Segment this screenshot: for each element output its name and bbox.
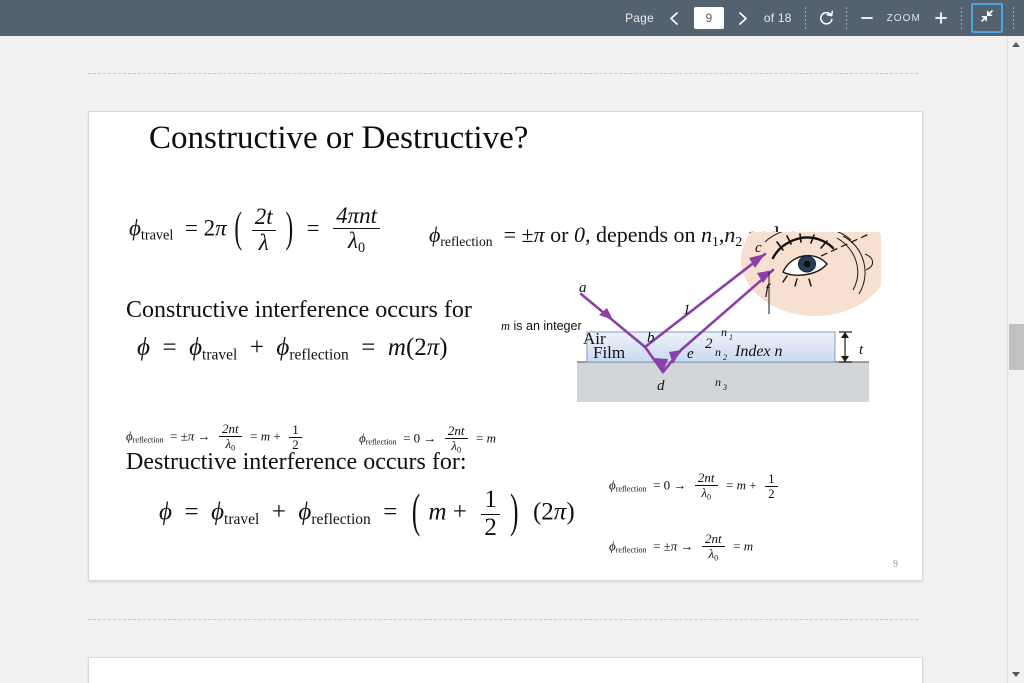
figure-label-film: Film: [593, 343, 625, 362]
equation-phi-travel: ϕtravel = 2π ( 2t λ ) = 4πnt λ0: [129, 204, 382, 256]
equation-destructive-case-2: ϕreflection = ±π → 2nt λ0 = m: [609, 532, 753, 563]
exit-fullscreen-icon: [979, 8, 995, 29]
page-separator: [88, 619, 918, 620]
page-separator: [88, 73, 918, 74]
document-page-next[interactable]: [88, 657, 923, 683]
page-label: Page: [618, 11, 661, 25]
zoom-label: ZOOM: [881, 13, 927, 24]
vertical-scrollbar[interactable]: [1007, 36, 1024, 683]
page-number-input[interactable]: [694, 7, 724, 29]
equation-destructive: ϕ = ϕtravel + ϕreflection = ( m + 1 2 ) …: [159, 487, 575, 541]
page-title: Constructive or Destructive?: [149, 120, 528, 157]
previous-page-button[interactable]: [661, 4, 689, 32]
figure-label-e: e: [687, 346, 694, 362]
document-viewer[interactable]: Constructive or Destructive? ϕtravel = 2…: [0, 36, 1007, 683]
zoom-group: ZOOM: [853, 0, 955, 36]
svg-text:2: 2: [723, 353, 727, 362]
page-navigation-group: Page of 18: [618, 0, 799, 36]
thin-film-interference-figure: a b c d e f 1 2 Air Film Index n n 1: [569, 232, 881, 407]
viewer-toolbar: Page of 18 ZOOM: [0, 0, 1024, 36]
figure-label-index: Index n: [734, 343, 783, 360]
scroll-thumb[interactable]: [1009, 324, 1024, 370]
svg-text:n: n: [721, 325, 727, 339]
toolbar-divider: [805, 7, 806, 29]
scroll-down-arrow-icon[interactable]: [1008, 666, 1024, 683]
destructive-heading: Destructive interference occurs for:: [126, 449, 467, 476]
figure-label-ray-1: 1: [683, 302, 691, 318]
svg-text:1: 1: [729, 333, 733, 342]
toolbar-divider: [1013, 7, 1014, 29]
svg-text:n: n: [715, 375, 721, 389]
figure-label-d: d: [657, 378, 665, 394]
svg-text:3: 3: [722, 383, 727, 392]
next-page-button[interactable]: [729, 4, 757, 32]
scroll-up-arrow-icon[interactable]: [1008, 36, 1024, 53]
figure-label-thickness: t: [859, 342, 864, 358]
exit-fullscreen-button[interactable]: [971, 3, 1003, 33]
figure-label-ray-2: 2: [705, 336, 713, 352]
figure-label-b: b: [647, 330, 655, 346]
equation-constructive: ϕ = ϕtravel + ϕreflection = m(2π): [137, 334, 448, 364]
document-page[interactable]: Constructive or Destructive? ϕtravel = 2…: [88, 111, 923, 581]
figure-label-c: c: [755, 240, 762, 256]
figure-label-a: a: [579, 280, 587, 296]
zoom-out-button[interactable]: [853, 4, 881, 32]
rotate-icon[interactable]: [812, 4, 840, 32]
slide-page-number: 9: [893, 559, 898, 570]
equation-destructive-case-1: ϕreflection = 0 → 2nt λ0 = m + 1 2: [609, 471, 780, 502]
page-count-label: of 18: [757, 11, 799, 25]
toolbar-divider: [846, 7, 847, 29]
toolbar-divider: [961, 7, 962, 29]
constructive-heading: Constructive interference occurs for: [126, 297, 472, 324]
zoom-in-button[interactable]: [927, 4, 955, 32]
svg-text:n: n: [715, 345, 721, 359]
